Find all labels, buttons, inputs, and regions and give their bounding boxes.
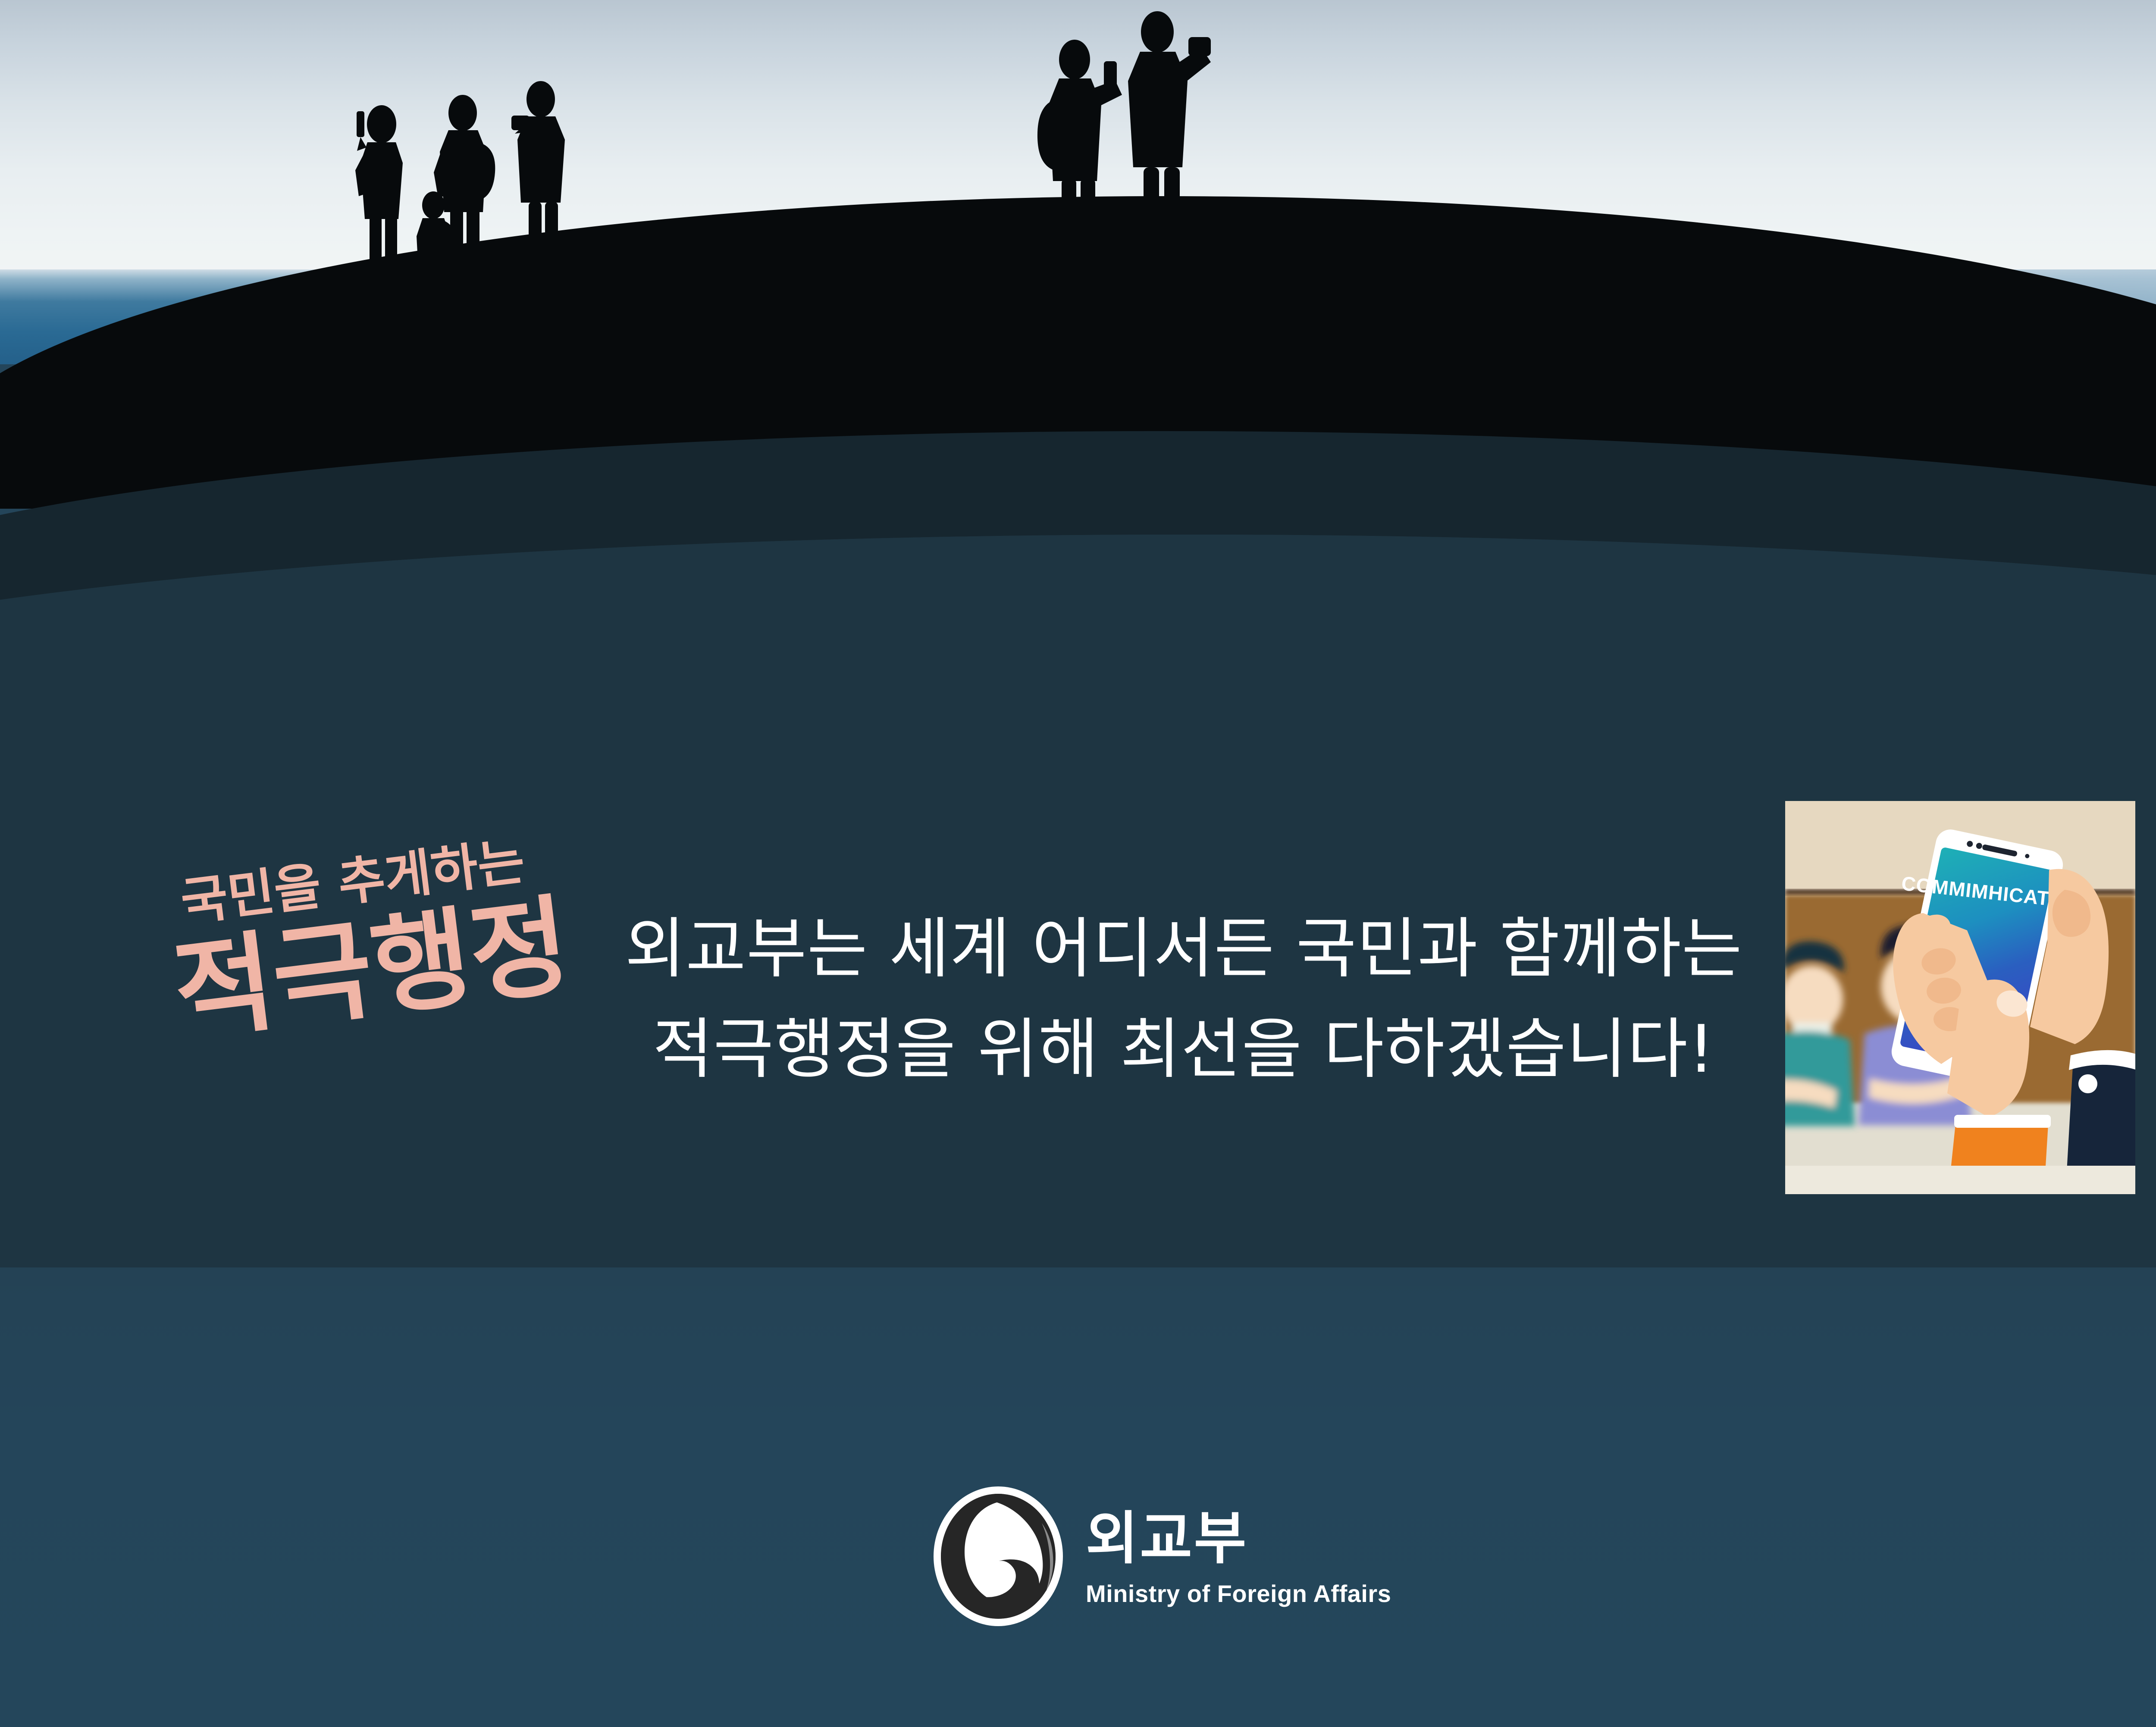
- taegeuk-emblem-svg: [931, 1485, 1065, 1627]
- ministry-name-ko: 외교부: [1086, 1510, 1391, 1567]
- taegeuk-emblem-icon: [931, 1485, 1065, 1627]
- ministry-text-block: 외교부 Ministry of Foreign Affairs: [1086, 1507, 1391, 1606]
- illustration-svg: COMMIMHICATON: [1785, 801, 2135, 1194]
- ministry-name-en: Ministry of Foreign Affairs: [1086, 1582, 1391, 1606]
- ministry-logo-lockup: 외교부 Ministry of Foreign Affairs: [931, 1483, 1406, 1630]
- headline-block: 외교부는 세계 어디서든 국민과 함께하는 적극행정을 위해 최선을 다하겠습니…: [612, 899, 1755, 1099]
- counter-front: [1785, 1166, 2135, 1194]
- sleeve-cuff-orange: [1954, 1115, 2051, 1128]
- calligraphy-logo: .ln1 { font-size: 118px; } .ln2 { font-s…: [170, 834, 567, 1093]
- headline-line-1: 외교부는 세계 어디서든 국민과 함께하는: [612, 899, 1755, 999]
- calligraphy-logo-svg: .ln1 { font-size: 118px; } .ln2 { font-s…: [170, 834, 567, 1093]
- sleeve-button-icon: [2078, 1074, 2097, 1093]
- headline-line-2: 적극행정을 위해 최선을 다하겠습니다!: [612, 999, 1755, 1100]
- poster-canvas: .ln1 { font-size: 118px; } .ln2 { font-s…: [0, 0, 2156, 1727]
- illustration-card: COMMIMHICATON: [1785, 801, 2135, 1194]
